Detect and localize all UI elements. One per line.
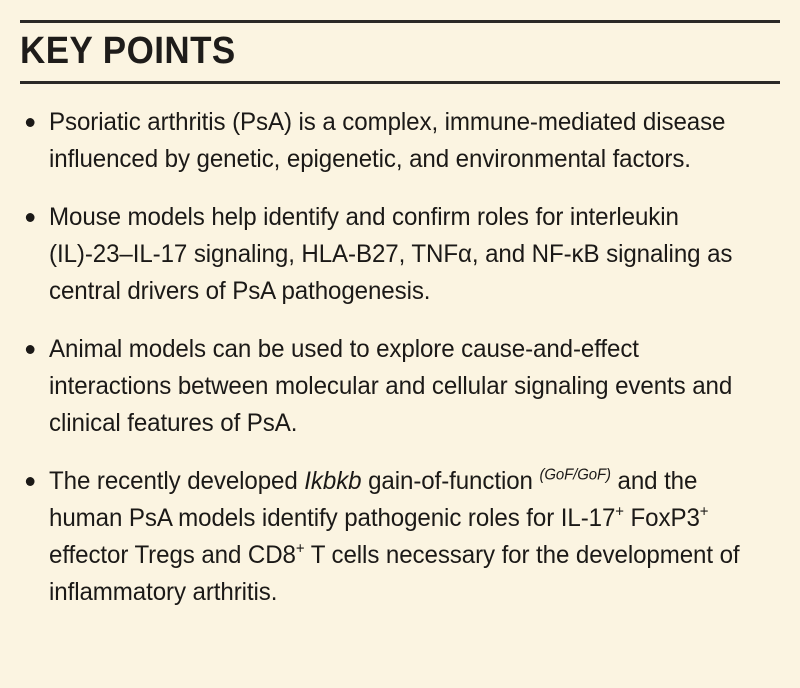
list-item-text: The recently developed Ikbkb gain-of-fun…: [49, 463, 757, 611]
title-underline-rule: [20, 81, 780, 84]
bullet-marker-icon: [26, 345, 35, 354]
list-item-text: Animal models can be used to explore cau…: [49, 331, 757, 442]
list-item: Psoriatic arthritis (PsA) is a complex, …: [22, 104, 757, 178]
bullet-marker-icon: [26, 477, 35, 486]
list-item: Mouse models help identify and confirm r…: [22, 199, 757, 310]
list-item-text: Psoriatic arthritis (PsA) is a complex, …: [49, 104, 757, 178]
bullet-marker-icon: [26, 213, 35, 222]
top-rule: [20, 20, 780, 23]
key-points-box: KEY POINTS Psoriatic arthritis (PsA) is …: [0, 0, 800, 688]
page-title: KEY POINTS: [20, 28, 236, 74]
list-item: The recently developed Ikbkb gain-of-fun…: [22, 463, 757, 611]
key-points-list: Psoriatic arthritis (PsA) is a complex, …: [22, 104, 784, 611]
list-item-text: Mouse models help identify and confirm r…: [49, 199, 757, 310]
list-item: Animal models can be used to explore cau…: [22, 331, 757, 442]
bullet-marker-icon: [26, 118, 35, 127]
